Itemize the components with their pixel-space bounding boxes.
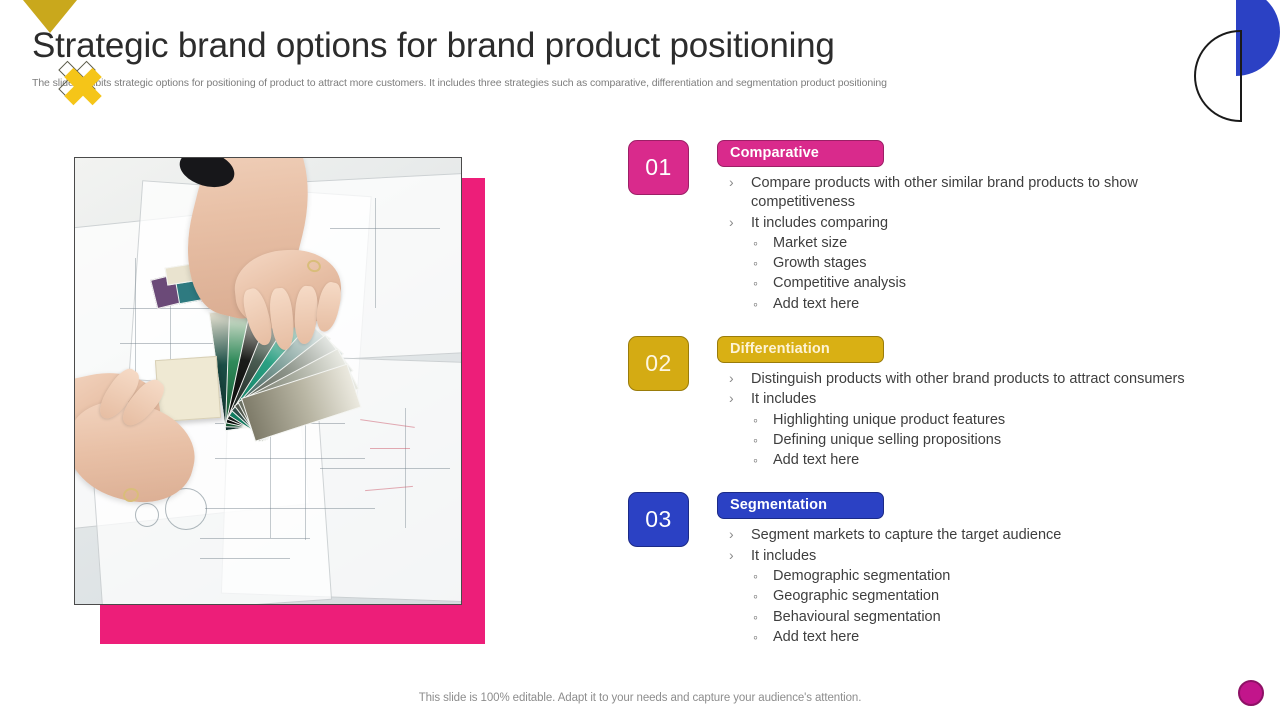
sub-bullet-item: Add text here <box>725 451 1228 470</box>
strategy-bullets-comparative: Compare products with other similar bran… <box>717 174 1228 314</box>
sub-bullet-item: Competitive analysis <box>725 274 1228 293</box>
slide-footer-note: This slide is 100% editable. Adapt it to… <box>0 692 1280 704</box>
sub-bullet-item: Behavioural segmentation <box>725 608 1228 627</box>
bullet-item: Segment markets to capture the target au… <box>725 526 1228 545</box>
sub-bullet-item: Add text here <box>725 628 1228 647</box>
sub-bullet-item: Demographic segmentation <box>725 567 1228 586</box>
bullet-item: It includes <box>725 390 1228 409</box>
strategy-number-badge-01: 01 <box>628 140 689 195</box>
strategy-label-differentiation: Differentiation <box>717 336 884 363</box>
strategy-bullets-differentiation: Distinguish products with other brand pr… <box>717 370 1228 470</box>
strategy-item-segmentation: 03 Segmentation Segment markets to captu… <box>628 492 1228 647</box>
page-title: Strategic brand options for brand produc… <box>32 26 1220 66</box>
half-circle-blue-icon <box>1236 0 1280 76</box>
photo-frame <box>74 157 462 605</box>
strategy-item-comparative: 01 Comparative Compare products with oth… <box>628 140 1228 314</box>
sub-bullet-item: Growth stages <box>725 254 1228 273</box>
slide-root: Strategic brand options for brand produc… <box>0 0 1280 720</box>
sub-bullet-item: Market size <box>725 234 1228 253</box>
bullet-item: Distinguish products with other brand pr… <box>725 370 1228 389</box>
sub-bullet-item: Defining unique selling propositions <box>725 431 1228 450</box>
photo-image <box>75 158 461 604</box>
strategy-number-badge-03: 03 <box>628 492 689 547</box>
slide-header: Strategic brand options for brand produc… <box>32 26 1220 91</box>
bullet-item: Compare products with other similar bran… <box>725 174 1228 213</box>
bullet-item: It includes <box>725 547 1228 566</box>
strategies-list: 01 Comparative Compare products with oth… <box>628 140 1228 669</box>
strategy-bullets-segmentation: Segment markets to capture the target au… <box>717 526 1228 647</box>
sub-bullet-item: Highlighting unique product features <box>725 411 1228 430</box>
sub-bullet-item: Add text here <box>725 295 1228 314</box>
page-subtitle: The slide exhibits strategic options for… <box>32 77 1220 91</box>
strategy-item-differentiation: 02 Differentiation Distinguish products … <box>628 336 1228 470</box>
bullet-item: It includes comparing <box>725 214 1228 233</box>
sub-bullet-item: Geographic segmentation <box>725 587 1228 606</box>
strategy-label-segmentation: Segmentation <box>717 492 884 519</box>
x-cross-icon <box>57 59 103 105</box>
strategy-number-badge-02: 02 <box>628 336 689 391</box>
strategy-label-comparative: Comparative <box>717 140 884 167</box>
